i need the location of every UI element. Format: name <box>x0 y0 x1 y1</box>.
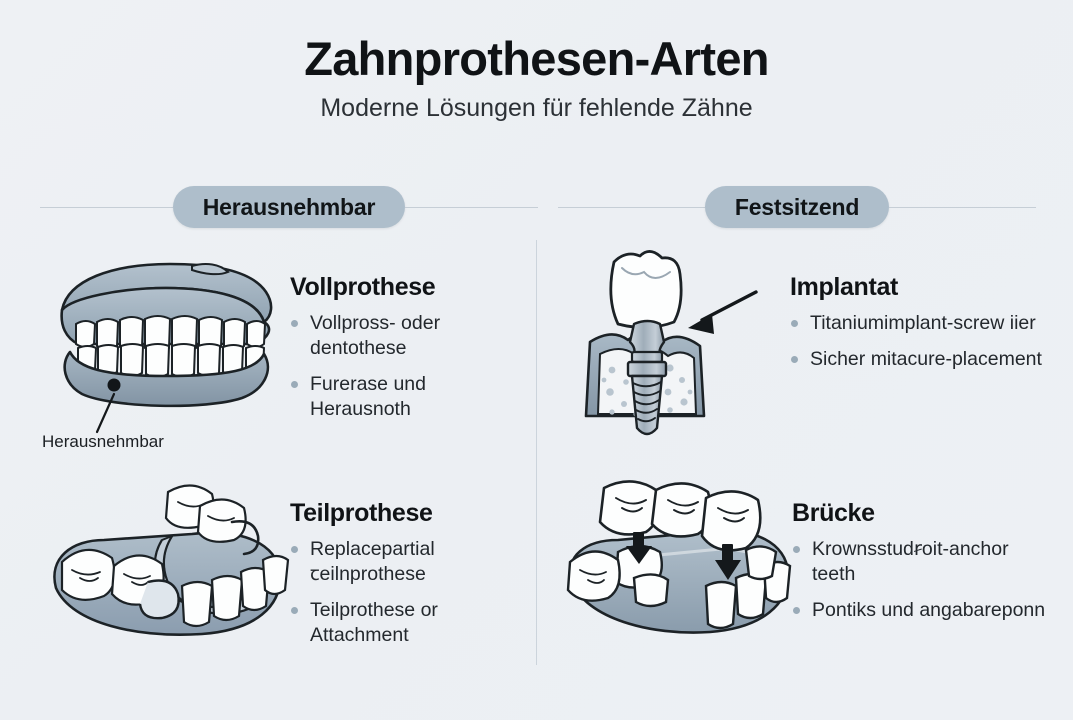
partial-denture-illustration <box>42 478 290 663</box>
bullet-list: Replacepartial ꞇeilnprothese Teilprothes… <box>290 537 522 648</box>
card-info: Brücke Krownsstudꞧoit-anchor teeth Ponti… <box>792 478 1052 623</box>
card-info: Implantat Titaniumimplant-screw iier Sic… <box>790 246 1052 372</box>
dental-implant-illustration <box>566 246 790 451</box>
rule-left <box>40 207 173 208</box>
item-title-implantat: Implantat <box>790 274 1052 302</box>
card-info: Teilprothese Replacepartial ꞇeilnprothes… <box>290 478 522 648</box>
item-title-vollprothese: Vollprothese <box>290 274 522 302</box>
section-header-removable: Herausnehmbar <box>40 186 538 228</box>
rule-left <box>558 207 705 208</box>
item-title-bruecke: Brücke <box>792 500 1052 528</box>
page-title: Zahnprothesen-Arten <box>0 34 1073 85</box>
bullet-list: Krownsstudꞧoit-anchor teeth Pontiks und … <box>792 537 1052 623</box>
list-item: Replacepartial ꞇeilnprothese <box>290 537 522 587</box>
card-teilprothese: Teilprothese Replacepartial ꞇeilnprothes… <box>42 478 522 663</box>
column-divider <box>536 240 537 665</box>
implant-arrow <box>688 292 756 334</box>
rule-right <box>405 207 538 208</box>
list-item: Pontiks und angabareponn <box>792 598 1052 623</box>
section-label-fixed: Festsitzend <box>735 194 859 221</box>
infographic-page: Zahnprothesen-Arten Moderne Lösungen für… <box>0 0 1073 720</box>
section-label-removable: Herausnehmbar <box>203 194 376 221</box>
callout-anchor-dot <box>108 379 121 392</box>
list-item: Krownsstudꞧoit-anchor teeth <box>792 537 1052 587</box>
header: Zahnprothesen-Arten Moderne Lösungen für… <box>0 34 1073 122</box>
section-pill-fixed: Festsitzend <box>705 186 889 228</box>
item-title-teilprothese: Teilprothese <box>290 500 522 528</box>
list-item: Titaniumimplant-screw iier <box>790 311 1052 336</box>
rule-right <box>889 207 1036 208</box>
list-item: Teilprothese or Attachment <box>290 598 522 648</box>
list-item: Sicher mitacure-placement <box>790 347 1052 372</box>
card-info: Vollprothese Vollpross- oder dentothese … <box>290 252 522 422</box>
full-denture-illustration <box>42 252 290 432</box>
section-header-fixed: Festsitzend <box>558 186 1036 228</box>
card-bruecke: Brücke Krownsstudꞧoit-anchor teeth Ponti… <box>560 478 1052 663</box>
page-subtitle: Moderne Lösungen für fehlende Zähne <box>0 95 1073 123</box>
card-vollprothese: Vollprothese Vollpross- oder dentothese … <box>42 252 522 432</box>
section-pill-removable: Herausnehmbar <box>173 186 406 228</box>
bullet-list: Vollpross- oder dentothese Furerase und … <box>290 311 522 422</box>
card-implantat: Implantat Titaniumimplant-screw iier Sic… <box>566 246 1052 451</box>
list-item: Furerase und Herausnoth <box>290 372 522 422</box>
dental-bridge-illustration <box>560 478 792 663</box>
list-item: Vollpross- oder dentothese <box>290 311 522 361</box>
bullet-list: Titaniumimplant-screw iier Sicher mitacu… <box>790 311 1052 372</box>
callout-label: Herausnehmbar <box>42 432 164 452</box>
